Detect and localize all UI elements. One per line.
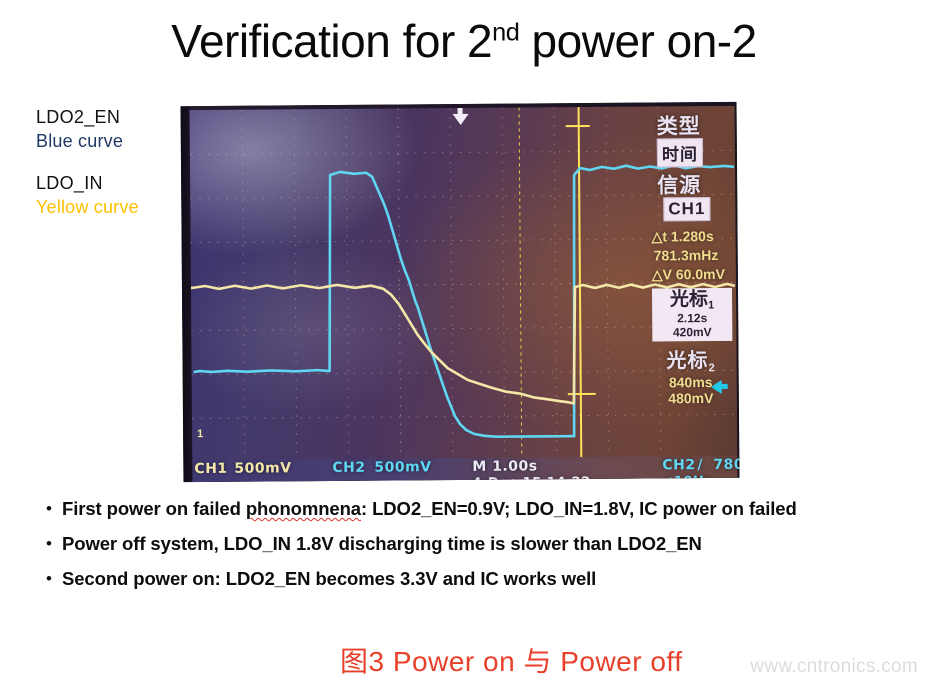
page-title-tail: power on-2 xyxy=(519,15,756,67)
oscilloscope-photo: 1 类型 时间 信源 CH1 △t 1.280s 781.3mHz △V 60.… xyxy=(181,102,740,482)
status-timebase: M 1.00s xyxy=(472,458,537,475)
channel-1-marker: 1 xyxy=(197,428,203,440)
cursor-1-label: 光标 xyxy=(670,288,708,310)
list-item: • First power on failed phonomnena: LDO2… xyxy=(36,496,898,522)
measurement-delta-t: △t 1.280s xyxy=(652,228,714,245)
cursor-2-label: 光标 xyxy=(666,348,708,372)
cursor-2-volt: 480mV xyxy=(653,390,729,407)
list-item: • Power off system, LDO_IN 1.8V discharg… xyxy=(36,531,898,557)
legend-group-ldo2en: LDO2_EN Blue curve xyxy=(36,105,186,154)
status-trigger-slope: ∕ xyxy=(697,457,703,473)
status-ch1-label: CH1 xyxy=(194,461,227,477)
figure-caption: 图3 Power on 与 Power off xyxy=(340,640,682,680)
status-frequency: <10Hz xyxy=(662,474,712,482)
cursor-2-index: 2 xyxy=(708,362,714,374)
page-title-superscript: nd xyxy=(492,19,519,47)
legend-curve-blue: Blue curve xyxy=(36,129,186,153)
menu-source-label: 信源 xyxy=(657,169,701,199)
bullet-marker: • xyxy=(36,566,62,591)
status-ch2-label: CH2 xyxy=(332,460,365,476)
status-ch1-scale: 500mV xyxy=(234,460,291,476)
cursor-2-time: 840ms xyxy=(653,374,729,391)
cursor-1-time: 2.12s xyxy=(655,312,729,326)
watermark: www.cntronics.com xyxy=(750,656,918,678)
bullet-list: • First power on failed phonomnena: LDO2… xyxy=(36,496,898,601)
measurement-delta-v: △V 60.0mV xyxy=(652,266,725,284)
scope-screen: 1 类型 时间 信源 CH1 △t 1.280s 781.3mHz △V 60.… xyxy=(190,106,738,462)
legend: LDO2_EN Blue curve LDO_IN Yellow curve xyxy=(36,105,186,236)
bullet-text: First power on failed phonomnena: LDO2_E… xyxy=(62,496,797,522)
status-ch2-scale: 500mV xyxy=(374,459,431,475)
list-item: • Second power on: LDO2_EN becomes 3.3V … xyxy=(36,566,898,592)
page-title-main: Verification for 2 xyxy=(171,15,492,67)
status-datetime: 4-Dec-15 14:22 xyxy=(472,475,590,482)
legend-curve-yellow: Yellow curve xyxy=(36,195,186,219)
menu-type-label: 类型 xyxy=(657,110,701,140)
bullet-marker: • xyxy=(36,496,62,521)
bullet-text-prefix: First power on failed xyxy=(62,498,246,519)
trigger-arrow-icon[interactable] xyxy=(453,114,469,125)
menu-type-value[interactable]: 时间 xyxy=(657,138,703,167)
bullet-text-suffix: : LDO2_EN=0.9V; LDO_IN=1.8V, IC power on… xyxy=(361,498,797,519)
bullet-text: Second power on: LDO2_EN becomes 3.3V an… xyxy=(62,566,596,592)
bullet-misspelled-word: phonomnena xyxy=(246,498,361,519)
cursor-1-readout[interactable]: 光标1 2.12s 420mV xyxy=(652,288,732,341)
bullet-text: Power off system, LDO_IN 1.8V dischargin… xyxy=(62,531,702,557)
legend-signal-name: LDO_IN xyxy=(36,171,186,195)
menu-source-value[interactable]: CH1 xyxy=(663,197,710,221)
status-trigger-source: CH2 xyxy=(662,457,695,473)
scope-side-menu: 类型 时间 信源 CH1 △t 1.280s 781.3mHz △V 60.0m… xyxy=(651,106,738,459)
bullet-marker: • xyxy=(36,531,62,556)
scope-status-bar: CH1 500mV CH2 500mV M 1.00s 4-Dec-15 14:… xyxy=(192,456,737,482)
measurement-frequency: 781.3mHz xyxy=(654,247,719,264)
legend-signal-name: LDO2_EN xyxy=(36,105,186,129)
cursor-1-index: 1 xyxy=(708,299,714,311)
page-title: Verification for 2nd power on-2 xyxy=(0,14,928,68)
status-trigger-level: 780mV xyxy=(713,457,739,473)
legend-group-ldoin: LDO_IN Yellow curve xyxy=(36,171,186,220)
cursor-2-readout[interactable]: 光标2 840ms 480mV xyxy=(652,344,728,407)
cursor-1-volt: 420mV xyxy=(655,326,729,340)
